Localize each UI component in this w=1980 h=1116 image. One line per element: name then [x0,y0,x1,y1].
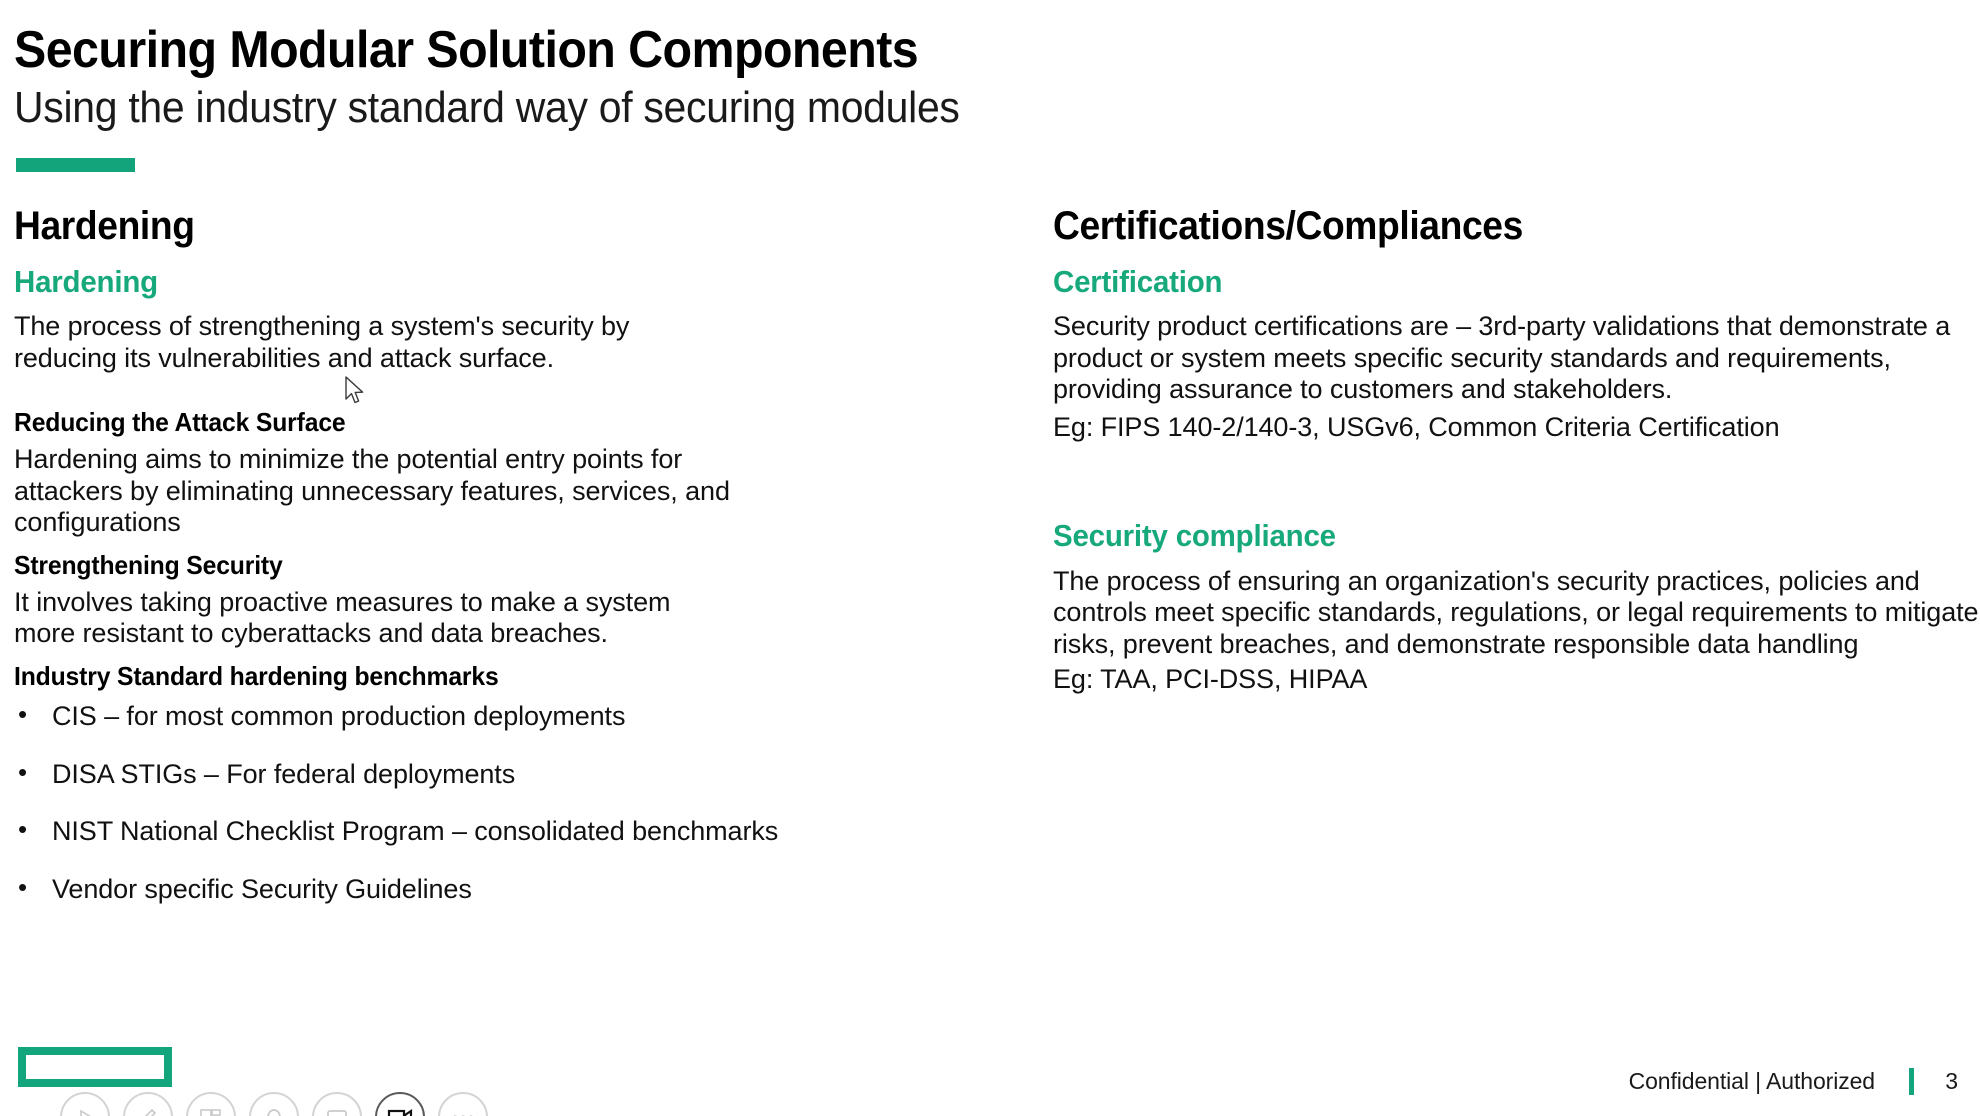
section-text-reducing-attack-surface: Hardening aims to minimize the potential… [14,444,764,539]
annotate-button[interactable] [123,1092,173,1116]
section-label-strengthening-security: Strengthening Security [14,551,926,581]
certification-text: Security product certifications are – 3r… [1053,311,1980,406]
certification-example: Eg: FIPS 140-2/140-3, USGv6, Common Crit… [1053,412,1980,444]
section-label-reducing-attack-surface: Reducing the Attack Surface [14,408,926,438]
laser-icon [263,1106,285,1116]
play-button[interactable] [60,1092,110,1116]
page-title: Securing Modular Solution Components [14,24,918,76]
play-icon [75,1107,95,1116]
footer: Confidential | Authorized 3 [1629,1068,1958,1095]
list-item: CIS – for most common production deploym… [14,702,974,732]
more-button[interactable] [438,1092,488,1116]
title-accent-bar [16,158,135,172]
spacer [1053,443,1980,519]
security-compliance-example: Eg: TAA, PCI-DSS, HIPAA [1053,664,1980,696]
list-item: DISA STIGs – For federal deployments [14,760,974,790]
right-column: Certifications/Compliances Certification… [1053,205,1980,696]
screen-icon [325,1107,349,1116]
laser-button[interactable] [249,1092,299,1116]
right-column-heading: Certifications/Compliances [1053,205,1918,247]
list-item: NIST National Checklist Program – consol… [14,817,974,847]
slide-canvas: Securing Modular Solution Components Usi… [0,0,1980,1116]
classification-label: Confidential | Authorized [1629,1070,1875,1093]
pen-icon [137,1106,159,1116]
left-column: Hardening Hardening The process of stren… [14,205,974,933]
present-button[interactable] [312,1092,362,1116]
camera-button[interactable] [375,1092,425,1116]
section-text-strengthening-security: It involves taking proactive measures to… [14,587,704,650]
hpe-logo [18,1047,172,1087]
presentation-control-bar[interactable] [60,1092,488,1116]
page-subtitle: Using the industry standard way of secur… [14,86,960,130]
list-item: Vendor specific Security Guidelines [14,875,974,905]
layout-icon [199,1107,223,1116]
camera-icon [387,1108,413,1116]
hardening-definition: The process of strengthening a system's … [14,311,694,374]
left-column-heading: Hardening [14,205,907,247]
spacer [14,374,974,408]
security-compliance-text: The process of ensuring an organization'… [1053,566,1980,661]
benchmarks-list: CIS – for most common production deploym… [14,702,974,905]
security-compliance-subheading: Security compliance [1053,519,1937,553]
footer-separator [1909,1068,1914,1095]
hardening-subheading: Hardening [14,265,926,299]
section-label-benchmarks: Industry Standard hardening benchmarks [14,662,926,692]
certification-subheading: Certification [1053,265,1937,299]
layout-button[interactable] [186,1092,236,1116]
page-number: 3 [1940,1070,1958,1093]
